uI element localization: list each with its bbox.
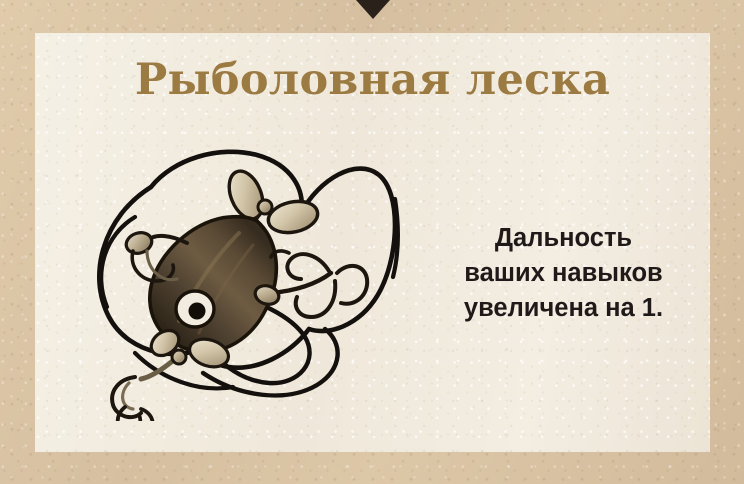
description-line-2: ваших навыков [417, 256, 710, 291]
fishing-lure-illustration [43, 121, 403, 421]
lure-eye [176, 291, 214, 327]
tooltip-pointer-arrow-icon [356, 0, 390, 19]
tooltip-card-screen: Рыболовная леска [0, 0, 744, 484]
page-title: Рыболовная леска [35, 54, 710, 106]
card-panel: Рыболовная леска [35, 33, 710, 452]
card-description-text: Дальность ваших навыков увеличена на 1. [417, 221, 710, 326]
description-line-3: увеличена на 1. [417, 291, 710, 326]
description-line-1: Дальность [417, 221, 710, 256]
